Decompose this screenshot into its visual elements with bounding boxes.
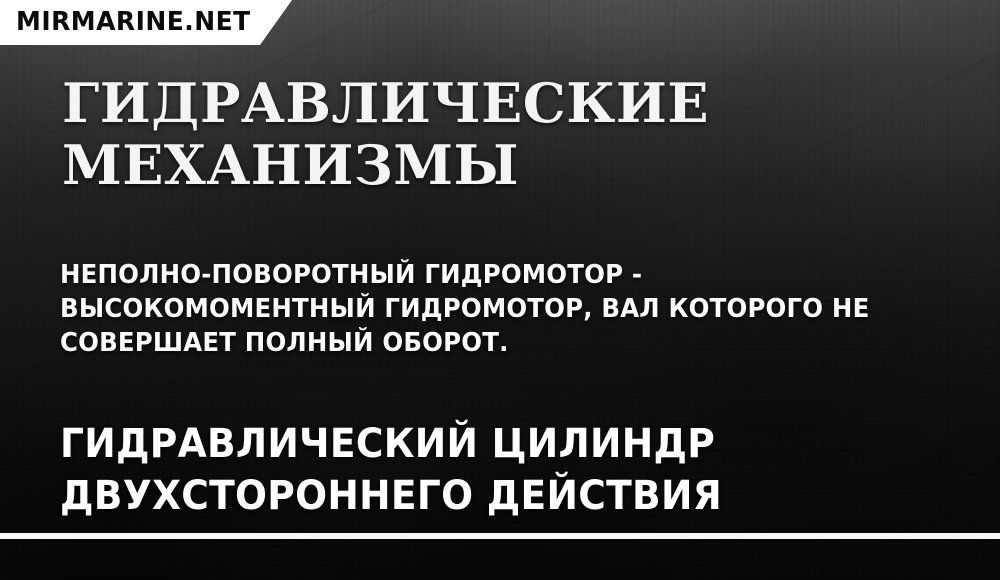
bottom-divider [0, 533, 1000, 539]
logo-banner[interactable]: MIRMARINE.NET [0, 0, 292, 45]
definition-paragraph: НЕПОЛНО-ПОВОРОТНЫЙ ГИДРОМОТОР - ВЫСОКОМО… [60, 258, 897, 360]
page-title: ГИДРАВЛИЧЕСКИЕ МЕХАНИЗМЫ [62, 72, 962, 196]
slide-root: MIRMARINE.NET ГИДРАВЛИЧЕСКИЕ МЕХАНИЗМЫ Н… [0, 0, 1000, 580]
logo-text: MIRMARINE.NET [16, 6, 251, 38]
section-heading: ГИДРАВЛИЧЕСКИЙ ЦИЛИНДР ДВУХСТОРОННЕГО ДЕ… [60, 418, 906, 522]
content-area: ГИДРАВЛИЧЕСКИЕ МЕХАНИЗМЫ НЕПОЛНО-ПОВОРОТ… [0, 0, 1000, 580]
